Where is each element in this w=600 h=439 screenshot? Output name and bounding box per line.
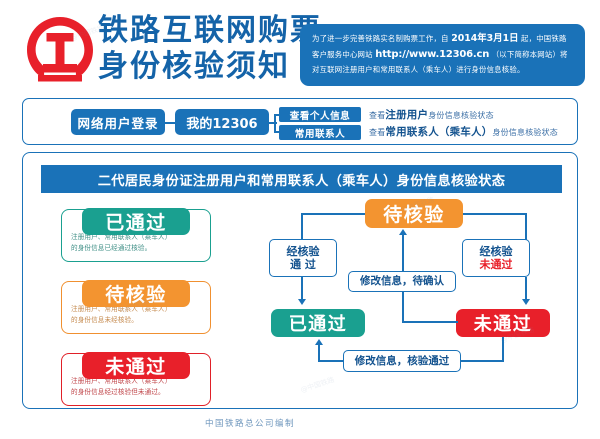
flow-line-top-right <box>461 213 527 215</box>
nav-option-personal-info[interactable]: 查看个人信息 <box>279 107 361 122</box>
flow-label-right-line1: 经核验 <box>480 245 513 258</box>
china-railway-logo <box>24 13 96 85</box>
footer-text: 中国铁路总公司编制 <box>205 419 395 429</box>
status-card-pending: 注册用户、常用联系人（乘车人） 的身份信息未经核验。 待核验 <box>61 281 211 334</box>
flow-arrow-to-fail <box>522 299 530 305</box>
flow-arrow-to-pending <box>399 229 407 235</box>
notice-effective-date: 2014年3月1日 <box>451 33 518 44</box>
flow-node-failed: 未通过 <box>456 309 550 337</box>
header: 铁路互联网购票 身份核验须知 为了进一步完善铁路实名制购票工作，自 2014年3… <box>0 0 600 96</box>
status-flow-diagram: 经核验 通 过 经核验 未通过 待核验 已通过 未通过 修改信息，待确认 <box>253 199 573 399</box>
footer: 中国铁路总公司编制 <box>0 417 600 429</box>
notice-text-1: 为了进一步完善铁路实名制购票工作，自 <box>312 34 449 43</box>
flow-label-left-line1: 经核验 <box>287 245 320 258</box>
nav-desc1-strong: 注册用户 <box>385 109 428 121</box>
flow-line-up-to-pass <box>318 345 320 362</box>
flow-line-mid-to-pending <box>402 235 404 271</box>
infographic-page: 铁路互联网购票 身份核验须知 为了进一步完善铁路实名制购票工作，自 2014年3… <box>0 0 600 439</box>
title-line-2: 身份核验须知 <box>98 50 322 84</box>
flow-line-right-down <box>525 213 527 241</box>
flow-label-modify-passed: 修改信息，核验通过 <box>343 350 461 372</box>
flow-line-mid-up <box>402 292 404 323</box>
flow-label-modify-pending: 修改信息，待确认 <box>348 271 456 292</box>
flow-label-verified-fail: 经核验 未通过 <box>462 239 530 277</box>
flow-line-bottom-left <box>318 360 345 362</box>
flow-line-fail-down <box>502 337 504 361</box>
flow-line-fail-to-mid <box>402 321 458 323</box>
nav-desc1-suffix: 身份信息核验状态 <box>428 111 494 120</box>
nav-step-my12306[interactable]: 我的12306 <box>175 109 269 135</box>
title-line-1: 铁路互联网购票 <box>98 14 322 48</box>
notice-url[interactable]: http://www.12306.cn <box>375 49 489 60</box>
verification-status-panel: 二代居民身份证注册用户和常用联系人（乘车人）身份信息核验状态 注册用户、常用联系… <box>22 152 578 409</box>
flow-line-bottom-right <box>459 360 504 362</box>
flow-node-pending: 待核验 <box>365 199 463 228</box>
nav-desc1-prefix: 查看 <box>369 111 385 120</box>
flow-line-left-down <box>301 213 303 241</box>
nav-description-1: 查看注册用户身份信息核验状态 <box>369 107 494 122</box>
flow-node-passed: 已通过 <box>271 309 365 337</box>
status-card-desc-line2: 的身份信息未经核验。 <box>71 315 201 326</box>
flow-line-left-to-pass <box>301 277 303 299</box>
flow-arrow-to-pass <box>298 299 306 305</box>
flow-label-verified-pass: 经核验 通 过 <box>269 239 337 277</box>
nav-description-2: 查看常用联系人（乘车人）身份信息核验状态 <box>369 124 558 139</box>
panel-title: 二代居民身份证注册用户和常用联系人（乘车人）身份信息核验状态 <box>41 165 562 193</box>
status-badge-pending: 待核验 <box>82 280 190 307</box>
navigation-path-strip: 网络用户登录 我的12306 查看个人信息 常用联系人 查看注册用户身份信息核验… <box>22 98 578 145</box>
status-card-passed: 注册用户、常用联系人（乘车人） 的身份信息已经通过核验。 已通过 <box>61 209 211 262</box>
nav-desc2-strong: 常用联系人（乘车人） <box>385 126 492 138</box>
flow-line-right-to-fail <box>525 277 527 299</box>
nav-step-login[interactable]: 网络用户登录 <box>71 109 165 135</box>
flow-label-left-line2: 通 过 <box>290 258 316 271</box>
nav-desc2-prefix: 查看 <box>369 128 385 137</box>
status-card-desc-line2: 的身份信息经过核验但未通过。 <box>71 387 201 398</box>
connector-line-1 <box>165 122 175 124</box>
flow-line-top-left <box>301 213 367 215</box>
page-title: 铁路互联网购票 身份核验须知 <box>98 14 322 84</box>
nav-desc2-suffix: 身份信息核验状态 <box>492 128 558 137</box>
status-badge-failed: 未通过 <box>82 352 190 379</box>
flow-label-right-line2: 未通过 <box>480 258 513 271</box>
status-card-desc-line2: 的身份信息已经通过核验。 <box>71 243 201 254</box>
status-badge-passed: 已通过 <box>82 208 190 235</box>
nav-option-frequent-contacts[interactable]: 常用联系人 <box>279 125 361 140</box>
flow-arrow-bottom-to-pass <box>315 339 323 345</box>
notice-box: 为了进一步完善铁路实名制购票工作，自 2014年3月1日 起，中国铁路客户服务中… <box>300 24 585 86</box>
status-card-failed: 注册用户、常用联系人（乘车人） 的身份信息经过核验但未通过。 未通过 <box>61 353 211 406</box>
